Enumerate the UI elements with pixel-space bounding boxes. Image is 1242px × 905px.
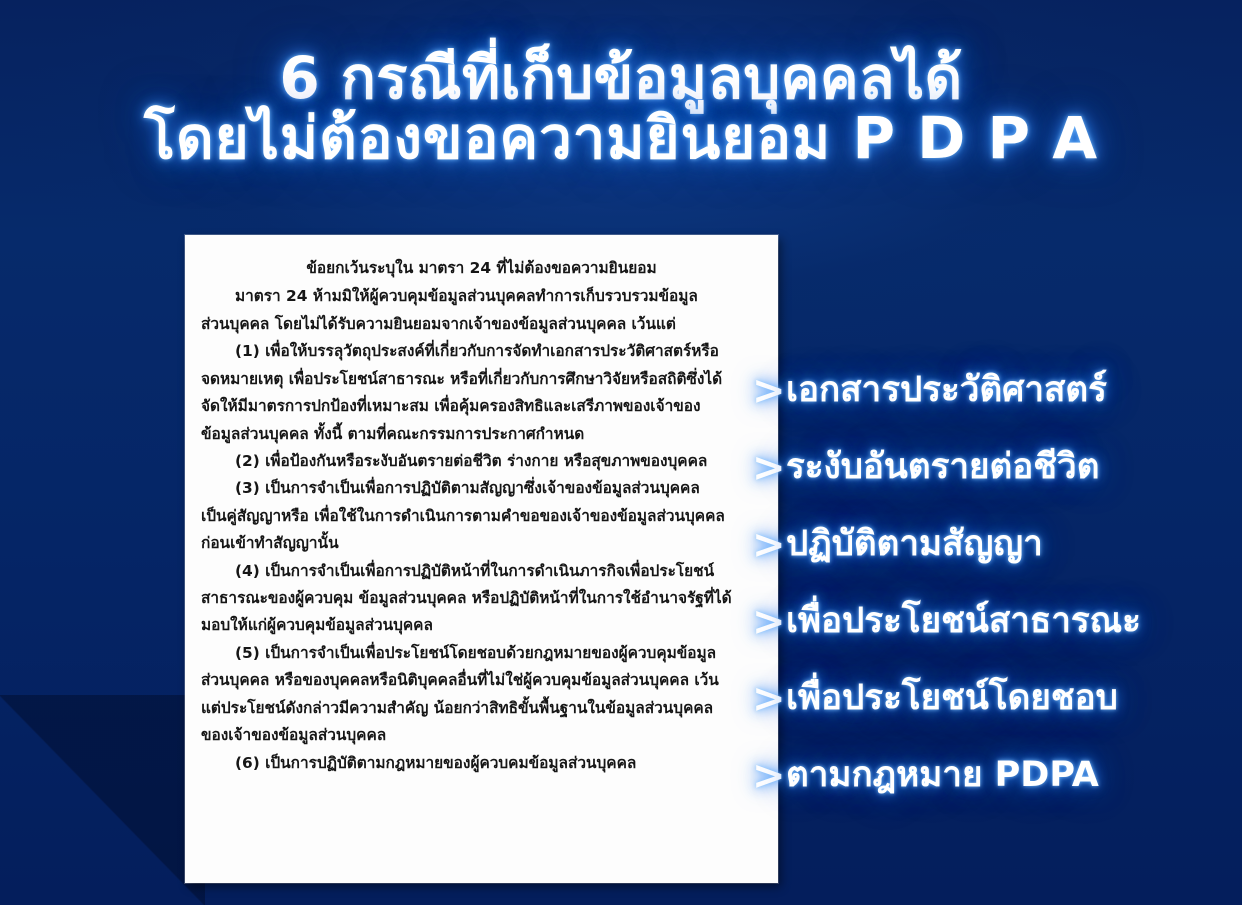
document-line: (4) เป็นการจำเป็นเพื่อการปฏิบัติหน้าที่ใ…: [201, 558, 762, 585]
chevron-right-icon: >: [752, 602, 786, 642]
title-line-1: 6 กรณีที่เก็บข้อมูลบุคคลได้: [0, 48, 1242, 108]
document-line: จดหมายเหตุ เพื่อประโยชน์สาธารณะ หรือที่เ…: [201, 366, 762, 393]
document-line: (2) เพื่อป้องกันหรือระงับอันตรายต่อชีวิต…: [201, 448, 762, 475]
callout-list: >เอกสารประวัติศาสตร์>ระงับอันตรายต่อชีวิ…: [752, 352, 1238, 814]
callout-label: ปฏิบัติตามสัญญา: [786, 525, 1238, 564]
document-line: ข้อมูลส่วนบุคคล ทั้งนี้ ตามที่คณะกรรมการ…: [201, 421, 762, 448]
callout-label: เพื่อประโยชน์สาธารณะ: [786, 602, 1238, 641]
infographic-slide: 6 กรณีที่เก็บข้อมูลบุคคลได้ โดยไม่ต้องขอ…: [0, 0, 1242, 905]
document-heading: ข้อยกเว้นระบุใน มาตรา 24 ที่ไม่ต้องขอควา…: [201, 255, 762, 282]
document-line: แต่ประโยชน์ดังกล่าวมีความสำคัญ น้อยกว่าส…: [201, 695, 762, 722]
page-title: 6 กรณีที่เก็บข้อมูลบุคคลได้ โดยไม่ต้องขอ…: [0, 48, 1242, 169]
title-line-2: โดยไม่ต้องขอความยินยอม P D P A: [0, 108, 1242, 168]
callout-label: เพื่อประโยชน์โดยชอบ: [786, 679, 1238, 718]
document-line: ส่วนบุคคล หรือของบุคคลหรือนิติบุคคลอื่นท…: [201, 667, 762, 694]
callout-label: ระงับอันตรายต่อชีวิต: [786, 448, 1238, 487]
callout-item[interactable]: >เพื่อประโยชน์สาธารณะ: [752, 583, 1238, 660]
document-line: (5) เป็นการจำเป็นเพื่อประโยชน์โดยชอบด้วย…: [201, 640, 762, 667]
chevron-right-icon: >: [752, 448, 786, 488]
callout-item[interactable]: >เพื่อประโยชน์โดยชอบ: [752, 660, 1238, 737]
chevron-right-icon: >: [752, 525, 786, 565]
callout-item[interactable]: >ปฏิบัติตามสัญญา: [752, 506, 1238, 583]
law-document-text: ข้อยกเว้นระบุใน มาตรา 24 ที่ไม่ต้องขอควา…: [185, 235, 778, 787]
document-line: มอบให้แก่ผู้ควบคุมข้อมูลส่วนบุคคล: [201, 612, 762, 639]
law-document-panel: ข้อยกเว้นระบุใน มาตรา 24 ที่ไม่ต้องขอควา…: [185, 235, 778, 883]
document-line: ส่วนบุคคล โดยไม่ได้รับความยินยอมจากเจ้าข…: [201, 311, 762, 338]
document-line: (3) เป็นการจำเป็นเพื่อการปฏิบัติตามสัญญา…: [201, 475, 762, 502]
document-line: เป็นคู่สัญญาหรือ เพื่อใช้ในการดำเนินการต…: [201, 503, 762, 530]
callout-item[interactable]: >ระงับอันตรายต่อชีวิต: [752, 429, 1238, 506]
callout-item[interactable]: >ตามกฎหมาย PDPA: [752, 737, 1238, 814]
document-line: (6) เป็นการปฏิบัติตามกฎหมายของผู้ควบคมข้…: [201, 750, 762, 777]
chevron-right-icon: >: [752, 679, 786, 719]
document-line: จัดให้มีมาตรการปกป้องที่เหมาะสม เพื่อคุ้…: [201, 393, 762, 420]
document-line: สาธารณะของผู้ควบคุม ข้อมูลส่วนบุคคล หรือ…: [201, 585, 762, 612]
background-diagonal-wedge: [0, 695, 205, 905]
callout-item[interactable]: >เอกสารประวัติศาสตร์: [752, 352, 1238, 429]
document-line: (1) เพื่อให้บรรลุวัตถุประสงค์ที่เกี่ยวกั…: [201, 338, 762, 365]
document-line: มาตรา 24 ห้ามมิให้ผู้ควบคุมข้อมูลส่วนบุค…: [201, 283, 762, 310]
chevron-right-icon: >: [752, 371, 786, 411]
document-line: ของเจ้าของข้อมูลส่วนบุคคล: [201, 722, 762, 749]
chevron-right-icon: >: [752, 756, 786, 796]
callout-label: เอกสารประวัติศาสตร์: [786, 371, 1238, 410]
callout-label: ตามกฎหมาย PDPA: [786, 756, 1238, 795]
document-line: ก่อนเข้าทำสัญญานั้น: [201, 530, 762, 557]
